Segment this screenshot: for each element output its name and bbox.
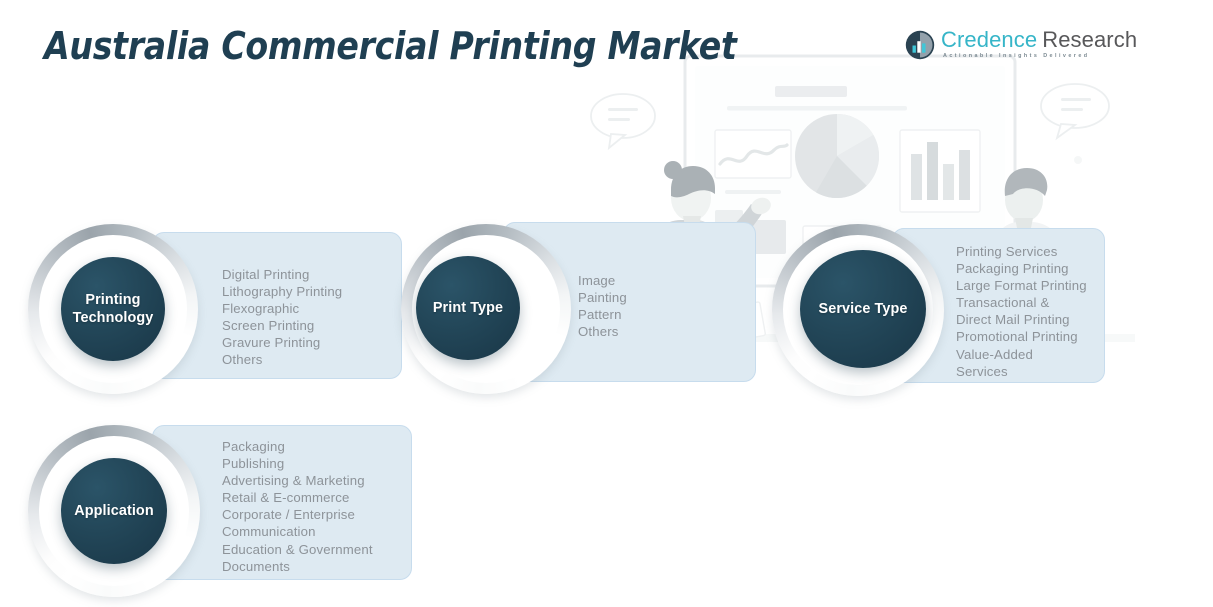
segment-bubble-application[interactable]: Application — [61, 458, 167, 564]
logo-wordmark: CredenceResearch — [941, 27, 1137, 53]
page-title: Australia Commercial Printing Market — [44, 24, 737, 68]
infographic-canvas: Australia Commercial Printing Market Cre… — [0, 0, 1213, 607]
segment-items-print-type: Image Painting Pattern Others — [578, 272, 748, 340]
segment-items-printing-technology: Digital Printing Lithography Printing Fl… — [222, 266, 402, 369]
credence-research-logo: CredenceResearch Actionable Insights Del… — [905, 28, 1100, 64]
logo-name-secondary: Research — [1042, 27, 1137, 52]
credence-bar-chart-circle-icon — [905, 30, 935, 60]
segment-label-printing-technology: Printing Technology — [73, 291, 154, 327]
segment-bubble-print-type[interactable]: Print Type — [416, 256, 520, 360]
segment-items-application: Packaging Publishing Advertising & Marke… — [222, 438, 412, 575]
segment-bubble-service-type[interactable]: Service Type — [800, 250, 926, 368]
segment-items-service-type: Printing Services Packaging Printing Lar… — [956, 243, 1116, 380]
segment-label-application: Application — [74, 502, 153, 520]
logo-tagline: Actionable Insights Delivered — [943, 53, 1090, 59]
segment-label-print-type: Print Type — [433, 299, 503, 317]
logo-name-primary: Credence — [941, 27, 1037, 52]
segment-label-service-type: Service Type — [819, 300, 908, 318]
segment-bubble-printing-technology[interactable]: Printing Technology — [61, 257, 165, 361]
